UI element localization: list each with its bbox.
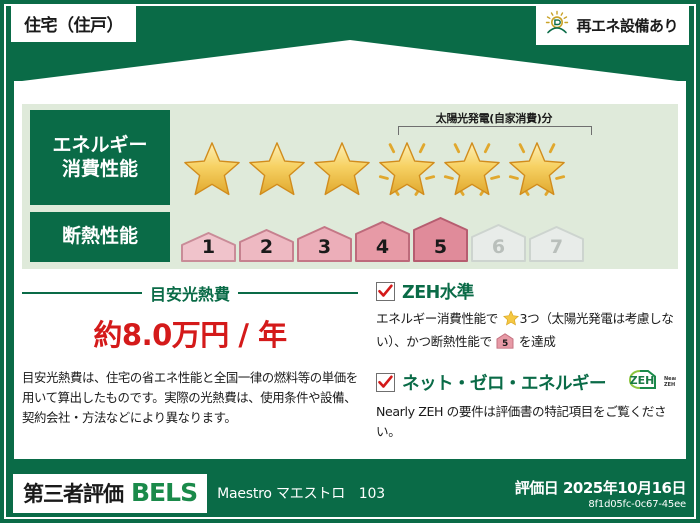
insulation-grade-3: 3 [297, 226, 352, 262]
insulation-label-text: 断熱性能 [62, 225, 138, 249]
cost-note: 目安光熱費は、住宅の省エネ性能と全国一律の燃料等の単価を用いて算出したものです。… [22, 368, 358, 428]
cost-value: 約8.0万円 / 年 [22, 312, 358, 354]
row-insulation-performance: 断熱性能 1 2 3 4 5 6 [30, 212, 670, 262]
cost-column: 目安光熱費 約8.0万円 / 年 目安光熱費は、住宅の省エネ性能と全国一律の燃料… [22, 279, 358, 441]
insulation-grade-number: 6 [492, 236, 505, 262]
star-solar-icon [374, 130, 439, 202]
stars-row [179, 130, 569, 202]
check-title-net-zero-energy: ネット・ゼロ・エネルギー [402, 370, 606, 395]
title-subtitle: 建築物省エネ法に基づく [0, 45, 700, 65]
check-icon [378, 284, 393, 299]
svg-text:5: 5 [502, 338, 508, 348]
bels-prefix: 第三者評価 [23, 478, 123, 508]
check-item-net-zero-energy: ネット・ゼロ・エネルギー ZEH Nearly ZEH Nearly ZEH の… [376, 367, 678, 441]
svg-text:ZEH: ZEH [664, 382, 675, 388]
badge-renewable-energy: 再エネ設備あり [536, 6, 689, 45]
bels-mark: BELS [131, 478, 197, 507]
cost-rule-left [22, 292, 142, 294]
cost-heading: 目安光熱費 [22, 281, 358, 305]
evaluation-date: 評価日 2025年10月16日 [515, 477, 686, 498]
check-head-zeh-standard: ZEH水準 [376, 279, 678, 304]
cost-rule-right [238, 292, 358, 294]
badge-renewable-label: 再エネ設備あり [576, 15, 678, 36]
lower-section: 目安光熱費 約8.0万円 / 年 目安光熱費は、住宅の省エネ性能と全国一律の燃料… [22, 279, 678, 441]
sun-renewable-icon [544, 10, 570, 40]
checkbox-zeh-standard[interactable] [376, 282, 395, 301]
star-icon [309, 130, 374, 202]
insulation-grade-number: 5 [434, 236, 447, 262]
svg-text:ZEH: ZEH [630, 374, 655, 387]
insulation-grade-number: 1 [202, 236, 215, 262]
house-badge-5-icon: 5 [496, 333, 514, 355]
insulation-grade-number: 2 [260, 236, 273, 262]
checkbox-net-zero-energy[interactable] [376, 373, 395, 392]
row-energy-performance: エネルギー 消費性能 太陽光発電(自家消費)分 [30, 110, 670, 205]
label-content: エネルギー 消費性能 太陽光発電(自家消費)分 [22, 104, 678, 451]
badge-dwelling-type: 住宅（住戸） [11, 6, 136, 42]
insulation-grade-number: 7 [550, 236, 563, 262]
check-icon [378, 375, 393, 390]
star-icon [179, 130, 244, 202]
energy-performance-label: 住宅（住戸） 再エネ設備あり 建築物省エネ法に基づく [0, 0, 700, 523]
zeh-desc-part1: エネルギー消費性能で [376, 311, 502, 326]
check-title-zeh-standard: ZEH水準 [402, 279, 474, 304]
page-title: 省エネ性能ラベル [0, 67, 700, 107]
insulation-grade-4: 4 [355, 221, 410, 262]
zeh-nearly-logo-icon: ZEH Nearly ZEH [618, 367, 676, 397]
insulation-grade-number: 3 [318, 236, 331, 262]
insulation-performance-value: 1 2 3 4 5 6 7 [179, 212, 670, 262]
check-head-net-zero-energy: ネット・ゼロ・エネルギー ZEH Nearly ZEH [376, 367, 678, 397]
insulation-grade-row: 1 2 3 4 5 6 7 [179, 212, 670, 262]
check-desc-zeh-standard: エネルギー消費性能で 3つ（太陽光発電は考慮しない）、かつ断熱性能で 5 を達成 [376, 309, 678, 354]
energy-performance-value: 太陽光発電(自家消費)分 [179, 110, 670, 205]
solar-bracket-label: 太陽光発電(自家消費)分 [394, 110, 594, 126]
energy-label-line1: エネルギー [52, 134, 147, 158]
star-icon [244, 130, 309, 202]
checks-column: ZEH水準 エネルギー消費性能で 3つ（太陽光発電は考慮しない）、かつ断熱性能で… [370, 279, 678, 441]
insulation-grade-6: 6 [471, 224, 526, 262]
insulation-grade-5: 5 [413, 217, 468, 262]
cost-heading-text: 目安光熱費 [150, 281, 230, 305]
footer-property-name: Maestro マエストロ 103 [217, 483, 385, 503]
insulation-grade-1: 1 [181, 232, 236, 262]
footer-evaluation-info: 評価日 2025年10月16日 8f1d05fc-0c67-45ee [515, 477, 686, 510]
footer-bar: 第三者評価 BELS Maestro マエストロ 103 評価日 2025年10… [0, 463, 700, 523]
evaluation-id: 8f1d05fc-0c67-45ee [515, 499, 686, 510]
bels-badge: 第三者評価 BELS [13, 474, 207, 513]
zeh-desc-part3: を達成 [515, 334, 555, 349]
insulation-grade-7: 7 [529, 226, 584, 262]
insulation-grade-2: 2 [239, 229, 294, 262]
star-solar-icon [439, 130, 504, 202]
performance-block: エネルギー 消費性能 太陽光発電(自家消費)分 [22, 104, 678, 269]
insulation-performance-label: 断熱性能 [30, 212, 170, 262]
check-item-zeh-standard: ZEH水準 エネルギー消費性能で 3つ（太陽光発電は考慮しない）、かつ断熱性能で… [376, 279, 678, 354]
insulation-grade-number: 4 [376, 236, 389, 262]
star-icon [503, 310, 519, 332]
star-solar-icon [504, 130, 569, 202]
star-rating-group: 太陽光発電(自家消費)分 [179, 110, 670, 205]
energy-performance-label: エネルギー 消費性能 [30, 110, 170, 205]
energy-label-line2: 消費性能 [62, 158, 138, 182]
check-desc-net-zero-energy: Nearly ZEH の要件は評価書の特記項目をご覧ください。 [376, 402, 678, 441]
